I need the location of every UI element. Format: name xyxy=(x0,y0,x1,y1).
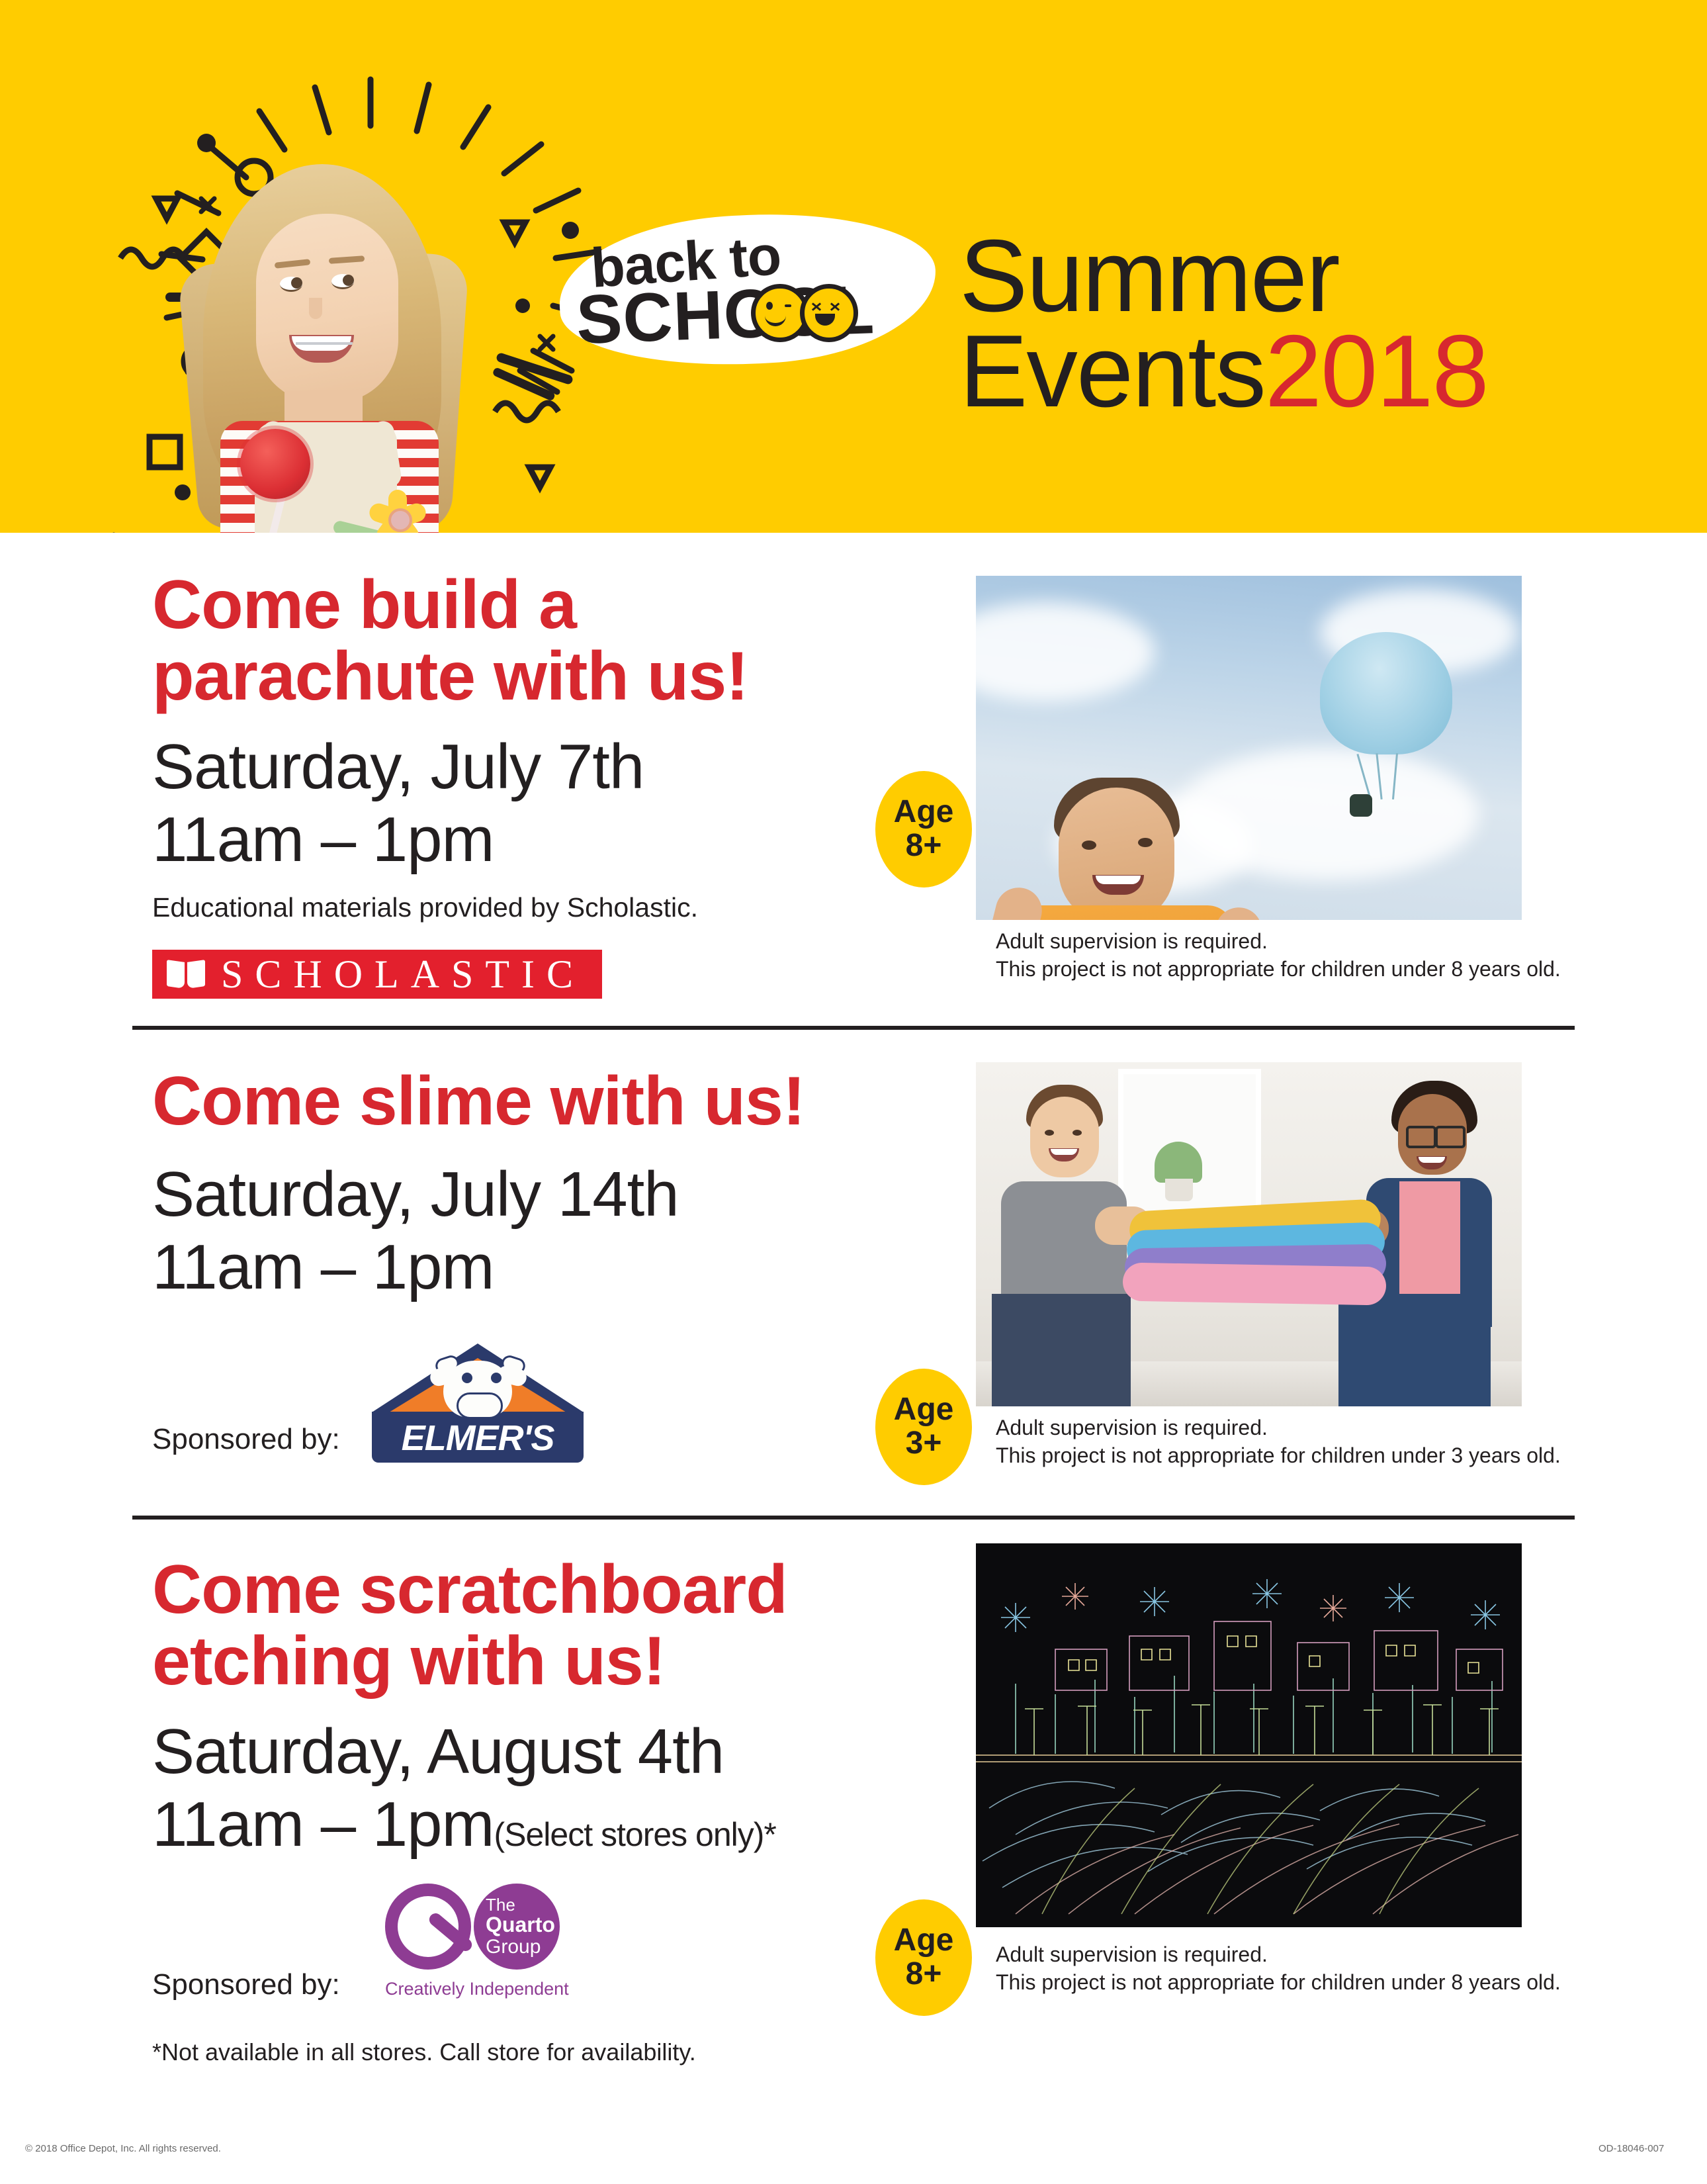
quarto-quarto: Quarto xyxy=(486,1914,555,1936)
event-1-note: Educational materials provided by Schola… xyxy=(152,891,920,924)
event-1-photo xyxy=(976,576,1522,920)
footer-copyright: © 2018 Office Depot, Inc. All rights res… xyxy=(25,2143,221,2154)
event-2-date: Saturday, July 14th xyxy=(152,1158,920,1230)
age-value: 3+ xyxy=(906,1427,942,1461)
back-to-school-logo: back to SCHOOL xyxy=(559,215,936,364)
event-2-photo xyxy=(976,1062,1522,1406)
header-banner: back to SCHOOL Summer Events2018 xyxy=(0,0,1707,533)
age-value: 8+ xyxy=(906,1958,942,1991)
quarto-q-icon xyxy=(385,1884,471,1970)
event-3-age-badge: Age 8+ xyxy=(875,1899,972,2016)
event-1-age-badge: Age 8+ xyxy=(875,771,972,887)
footer-code: OD-18046-007 xyxy=(1598,2143,1664,2154)
elmers-logo: ELMER'S xyxy=(372,1343,584,1463)
age-label: Age xyxy=(894,796,954,829)
girl-photo xyxy=(169,144,500,533)
title-year: 2018 xyxy=(1265,314,1488,428)
title-summer: Summer xyxy=(959,228,1488,324)
event-3-disclaimer-line1: Adult supervision is required. xyxy=(996,1940,1561,1968)
scholastic-wordmark: SCHOLASTIC xyxy=(221,952,585,997)
event-1-disclaimer-line1: Adult supervision is required. xyxy=(996,927,1561,955)
event-3-disclaimer-line2: This project is not appropriate for chil… xyxy=(996,1968,1561,1996)
event-3-disclaimer: Adult supervision is required. This proj… xyxy=(996,1940,1561,1996)
quarto-tagline: Creatively Independent xyxy=(385,1979,584,1999)
event-section-parachute: Come build a parachute with us! Saturday… xyxy=(0,533,1707,1029)
event-1-title-line2: parachute with us! xyxy=(152,641,920,712)
quarto-group: Group xyxy=(486,1936,541,1958)
event-2-disclaimer-line1: Adult supervision is required. xyxy=(996,1414,1561,1441)
age-value: 8+ xyxy=(906,829,942,863)
event-1-disclaimer: Adult supervision is required. This proj… xyxy=(996,927,1561,983)
event-1-title-line1: Come build a xyxy=(152,569,920,641)
event-section-slime: Come slime with us! Saturday, July 14th … xyxy=(0,1026,1707,1519)
event-3-time-suffix: (Select stores only)* xyxy=(494,1816,776,1853)
parachute-icon xyxy=(1320,632,1452,754)
event-3-availability-note: *Not available in all stores. Call store… xyxy=(152,2038,696,2066)
age-label: Age xyxy=(894,1924,954,1958)
event-2-title-line1: Come slime with us! xyxy=(152,1066,920,1137)
age-label: Age xyxy=(894,1393,954,1427)
event-3-time: 11am – 1pm xyxy=(152,1789,494,1860)
event-3-sponsor-label: Sponsored by: xyxy=(152,1968,340,2001)
event-2-disclaimer: Adult supervision is required. This proj… xyxy=(996,1414,1561,1469)
open-book-icon xyxy=(167,961,205,987)
event-2-time: 11am – 1pm xyxy=(152,1231,920,1303)
smiley-laugh-icon xyxy=(800,284,858,342)
event-3-title-line1: Come scratchboard xyxy=(152,1554,933,1625)
scratchboard-artwork xyxy=(976,1543,1522,1927)
event-2-sponsor-label: Sponsored by: xyxy=(152,1423,340,1456)
event-section-scratchboard: Come scratchboard etching with us! Satur… xyxy=(0,1516,1707,2111)
scholastic-logo: SCHOLASTIC xyxy=(152,950,602,999)
elmers-wordmark: ELMER'S xyxy=(372,1418,584,1459)
event-1-date: Saturday, July 7th xyxy=(152,731,920,803)
title-events: Events xyxy=(959,314,1265,428)
page-title: Summer Events2018 xyxy=(959,228,1488,419)
event-2-disclaimer-line2: This project is not appropriate for chil… xyxy=(996,1441,1561,1469)
event-3-date: Saturday, August 4th xyxy=(152,1715,933,1788)
event-1-time: 11am – 1pm xyxy=(152,803,920,876)
event-2-age-badge: Age 3+ xyxy=(875,1369,972,1485)
quarto-group-logo: The Quarto Group Creatively Independent xyxy=(385,1881,570,1980)
event-3-photo xyxy=(976,1543,1522,1927)
quarto-the: The xyxy=(486,1896,515,1914)
event-1-disclaimer-line2: This project is not appropriate for chil… xyxy=(996,955,1561,983)
event-3-title-line2: etching with us! xyxy=(152,1625,933,1697)
